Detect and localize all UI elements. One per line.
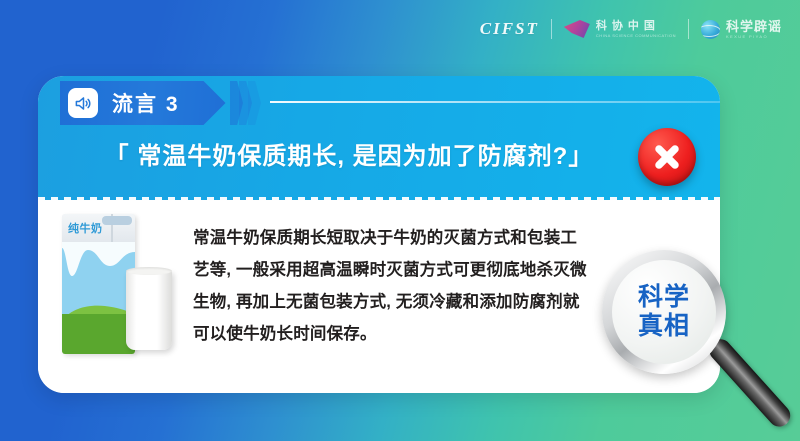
rumor-card-body: 纯牛奶 常温牛奶保质期长短取决于牛奶的灭菌方式和包装工艺等, 一般采用超高温瞬时… — [38, 200, 720, 393]
rumor-number-label: 流言 3 — [112, 88, 180, 118]
milk-glass-rim — [126, 267, 172, 275]
kexue-piyao-subtitle: KEXUE PIYAO — [726, 35, 782, 39]
china-science-communication-logo: 科协中国 CHINA SCIENCE COMMUNICATION — [564, 20, 676, 38]
kexue-piyao-logo: 科学辟谣 KEXUE PIYAO — [701, 20, 782, 39]
wing-icon — [564, 20, 590, 38]
china-science-communication-subtitle: CHINA SCIENCE COMMUNICATION — [596, 34, 676, 38]
globe-icon — [701, 20, 720, 39]
poster-canvas: CIFST 科协中国 CHINA SCIENCE COMMUNICATION 科… — [0, 0, 800, 441]
rumor-number-badge: 流言 3 — [60, 81, 226, 125]
milk-carton-and-glass-illustration: 纯牛奶 — [46, 182, 196, 392]
milk-carton: 纯牛奶 — [62, 214, 135, 354]
rumor-card: 流言 3 「 常温牛奶保质期长, 是因为加了防腐剂?」 — [38, 76, 720, 393]
china-science-communication-text: 科协中国 CHINA SCIENCE COMMUNICATION — [596, 21, 676, 38]
carton-label: 纯牛奶 — [68, 220, 103, 236]
carton-green-band — [62, 314, 135, 354]
brand-divider-2 — [688, 19, 689, 39]
rumor-title: 「 常温牛奶保质期长, 是因为加了防腐剂?」 — [38, 136, 720, 171]
carton-milk-drip — [62, 242, 135, 282]
kexue-piyao-title: 科学辟谣 — [726, 20, 782, 33]
milk-glass — [126, 270, 172, 350]
header-accent-line — [270, 101, 720, 103]
brand-bar: CIFST 科协中国 CHINA SCIENCE COMMUNICATION 科… — [480, 14, 782, 44]
brand-divider-1 — [551, 19, 552, 39]
carton-fold-tab — [102, 216, 132, 225]
truth-body-text: 常温牛奶保质期长短取决于牛奶的灭菌方式和包装工艺等, 一般采用超高温瞬时灭菌方式… — [193, 222, 593, 350]
cifst-logo: CIFST — [480, 19, 539, 39]
red-x-icon — [638, 128, 696, 186]
badge-arrow-3 — [248, 81, 261, 125]
kexue-piyao-text: 科学辟谣 KEXUE PIYAO — [726, 20, 782, 39]
china-science-communication-title: 科协中国 — [596, 21, 676, 32]
badge-arrow-tail — [234, 81, 261, 125]
megaphone-icon — [68, 88, 98, 118]
